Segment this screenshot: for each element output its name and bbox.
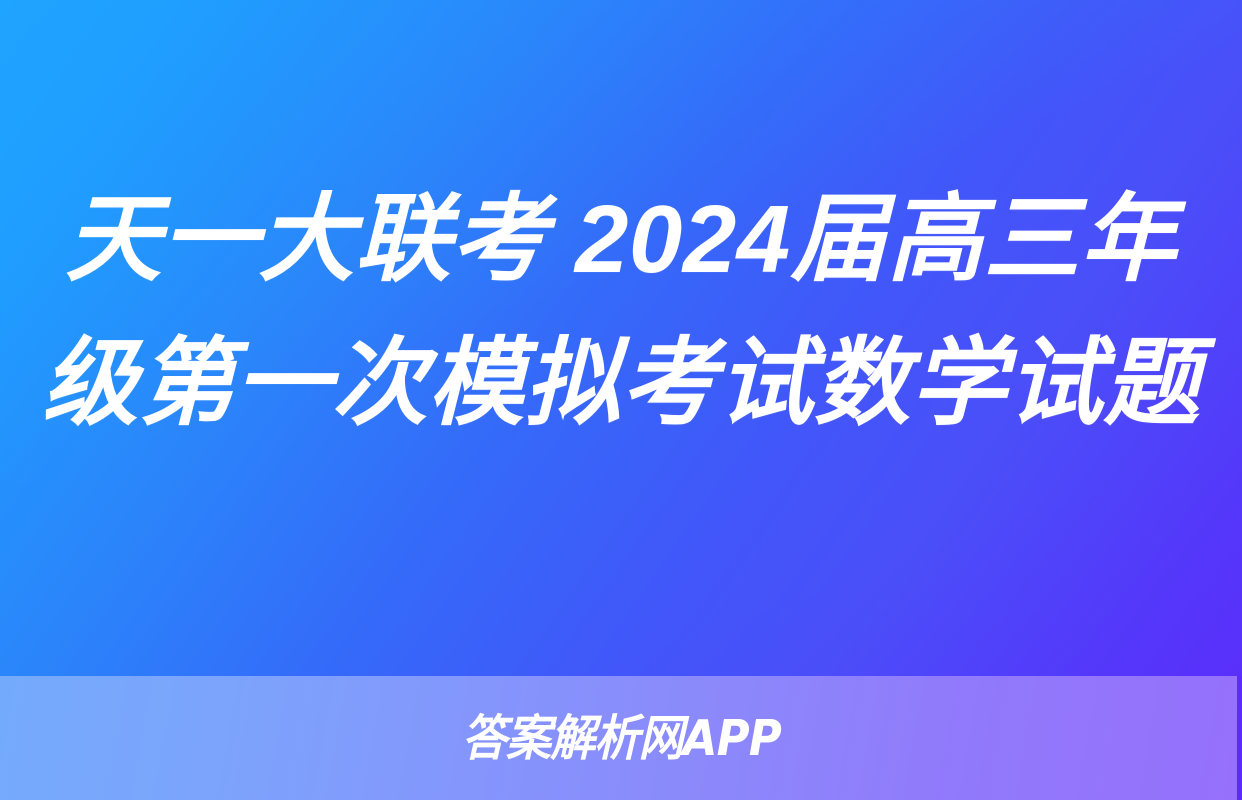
- band-right-edge-accent: [1237, 676, 1242, 800]
- watermark-label: 答案解析网APP: [461, 714, 780, 763]
- page-title: 天一大联考 2024届高三年级第一次模拟考试数学试题: [38, 168, 1204, 456]
- exam-cover-card: 天一大联考 2024届高三年级第一次模拟考试数学试题 答案解析网APP: [0, 0, 1242, 800]
- cover-title-block: 天一大联考 2024届高三年级第一次模拟考试数学试题: [0, 168, 1242, 456]
- watermark-band: 答案解析网APP: [0, 676, 1242, 800]
